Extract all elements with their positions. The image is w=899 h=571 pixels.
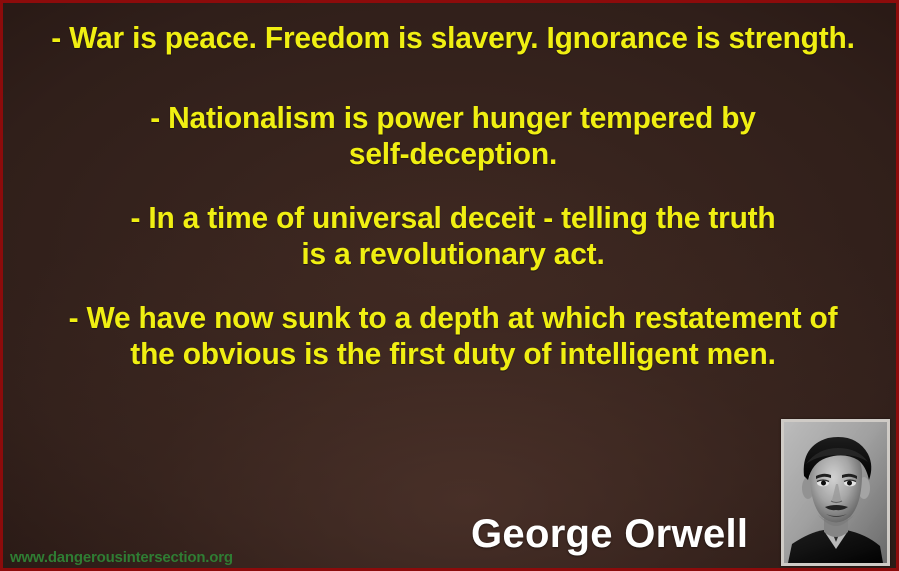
quote-list: - War is peace. Freedom is slavery. Igno… — [3, 3, 899, 372]
george-orwell-portrait-photo — [784, 422, 887, 563]
quote-nationalism: - Nationalism is power hunger tempered b… — [28, 100, 877, 172]
quote-universal-deceit: - In a time of universal deceit - tellin… — [28, 200, 877, 272]
website-watermark: www.dangerousintersection.org — [10, 549, 233, 567]
author-name: George Orwell — [471, 511, 748, 557]
orwell-quote-poster: - War is peace. Freedom is slavery. Igno… — [0, 0, 899, 571]
portrait-frame — [781, 419, 890, 566]
quote-restatement-of-the-obvious: - We have now sunk to a depth at which r… — [28, 300, 877, 372]
quote-war-is-peace: - War is peace. Freedom is slavery. Igno… — [28, 20, 877, 56]
